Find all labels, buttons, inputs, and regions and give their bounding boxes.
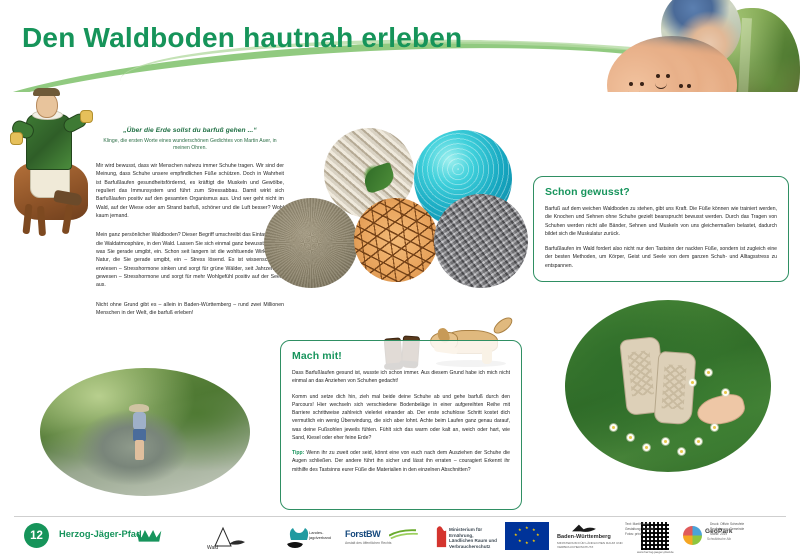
eu-stars-icon: ★ ★ ★ ★ ★ ★ ★ ★ [505,522,549,550]
svg-text:jagdverband: jagdverband [308,535,331,540]
mach-mit-paragraph-1: Dass Barfußlaufen gesund ist, wusste ich… [292,369,510,386]
tip-text: Wenn ihr zu zweit oder seid, könnt eine … [292,450,510,473]
ministerium-mark-icon [435,522,448,550]
bw-wordmark: Baden-Württemberg [557,534,611,540]
eu-flag: ★ ★ ★ ★ ★ ★ ★ ★ [505,522,549,550]
right-hiking-boot [653,350,696,424]
girl-wading-in-forest-stream-photo [40,368,250,496]
hunter-left-cuff [10,132,23,145]
bare-feet [694,391,747,430]
svg-text:Wald: Wald [207,545,218,550]
dog-tail [491,314,515,336]
footer-credits: Text: Martin Auer Druck: Offizin Scheufe… [625,522,790,536]
schon-gewusst-paragraph-2: Barfußlaufen im Wald fordert also nicht … [545,245,777,270]
station-number-badge: 12 [24,523,49,548]
forstbw-wordmark: ForstBW [345,529,380,539]
trail-name: Herzog-Jäger-Pfad [59,529,142,539]
waldwissen-logo: Wald [205,522,267,550]
ministerium-wordmark: Ministerium für Ernährung, Ländlichen Ra… [449,527,497,550]
forstbw-swoosh-icon [389,527,425,539]
qr-code-caption: www.herzog-jaeger-pfad.de [637,550,674,554]
header-photo-cluster [615,0,800,92]
bare-legs [135,440,144,460]
geopark-subtitle: Schwäbische Alb [707,537,731,541]
schon-gewusst-heading: Schon gewusst? [545,186,777,198]
baden-wuerttemberg-logo: Baden-Württemberg MINISTERIUM FÜR LÄNDLI… [557,522,633,550]
body-paragraph-2: Mein ganz persönlicher Waldboden? Dieser… [96,231,284,289]
hiking-boots-and-bare-feet-in-daisies-photo [565,300,771,472]
bw-subtitle: MINISTERIUM FÜR LÄNDLICHEN RAUM UND VERB… [557,542,633,549]
shirt [133,412,146,430]
forstbw-logo: ForstBW Anstalt des öffentlichen Rechts [345,522,425,550]
cracked-dry-earth-sample [354,198,438,282]
schon-gewusst-box: Schon gewusst? Barfuß auf dem weichen Wa… [533,176,789,282]
historical-duke-hunter-illustration [8,88,100,263]
poem-quote: „Über die Erde sollst du barfuß gehen ..… [96,126,284,136]
poster-footer: 12 Herzog-Jäger-Pfad Wald Landes- jagdve… [0,518,800,552]
credit-left-3: Fotos: privat [625,532,705,537]
poem-quote-source: Klinge, die ersten Worte eines wundersch… [96,138,284,153]
hunter-hat [33,88,60,96]
boot-laces [627,350,653,396]
girl-figure [132,404,147,460]
tip-label: Tipp: [292,450,304,456]
schon-gewusst-paragraph-1: Barfuß auf dem weichen Waldboden zu steh… [545,205,777,238]
sun-hat [129,404,149,412]
mach-mit-heading: Mach mit! [292,350,510,362]
mach-mit-paragraph-2: Komm und setze dich hin, zieh mal beide … [292,393,510,443]
body-paragraph-3: Nicht ohne Grund gibt es – allein in Bad… [96,301,284,318]
gray-gravel-sample [434,194,528,288]
hunter-right-cuff [80,110,93,123]
ministerium-logo: Ministerium für Ernährung, Ländlichen Ra… [435,522,497,550]
footer-divider [14,516,786,517]
bw-crest-icon [567,522,601,534]
page-title: Den Waldboden hautnah erleben [22,22,462,54]
mach-mit-box: Mach mit! Dass Barfußlaufen gesund ist, … [280,340,522,510]
body-paragraph-1: Mir wird bewusst, dass wir Menschen nahe… [96,162,284,220]
fine-sand-soil-sample [264,198,358,288]
poster-header: Den Waldboden hautnah erleben [0,0,800,92]
forstbw-subtitle: Anstalt des öffentlichen Rechts [345,541,392,545]
poster-board: Den Waldboden hautnah erleben [0,0,800,552]
mach-mit-tip: Tipp: Wenn ihr zu zweit oder seid, könnt… [292,449,510,474]
crown-icon [135,528,163,543]
left-text-column: „Über die Erde sollst du barfuß gehen ..… [96,126,284,317]
boot-laces [661,364,686,409]
deer-logo: Landes- jagdverband [277,522,333,550]
credit-right-3: Stand: 2019 [710,532,790,537]
ground-material-samples [262,128,528,308]
